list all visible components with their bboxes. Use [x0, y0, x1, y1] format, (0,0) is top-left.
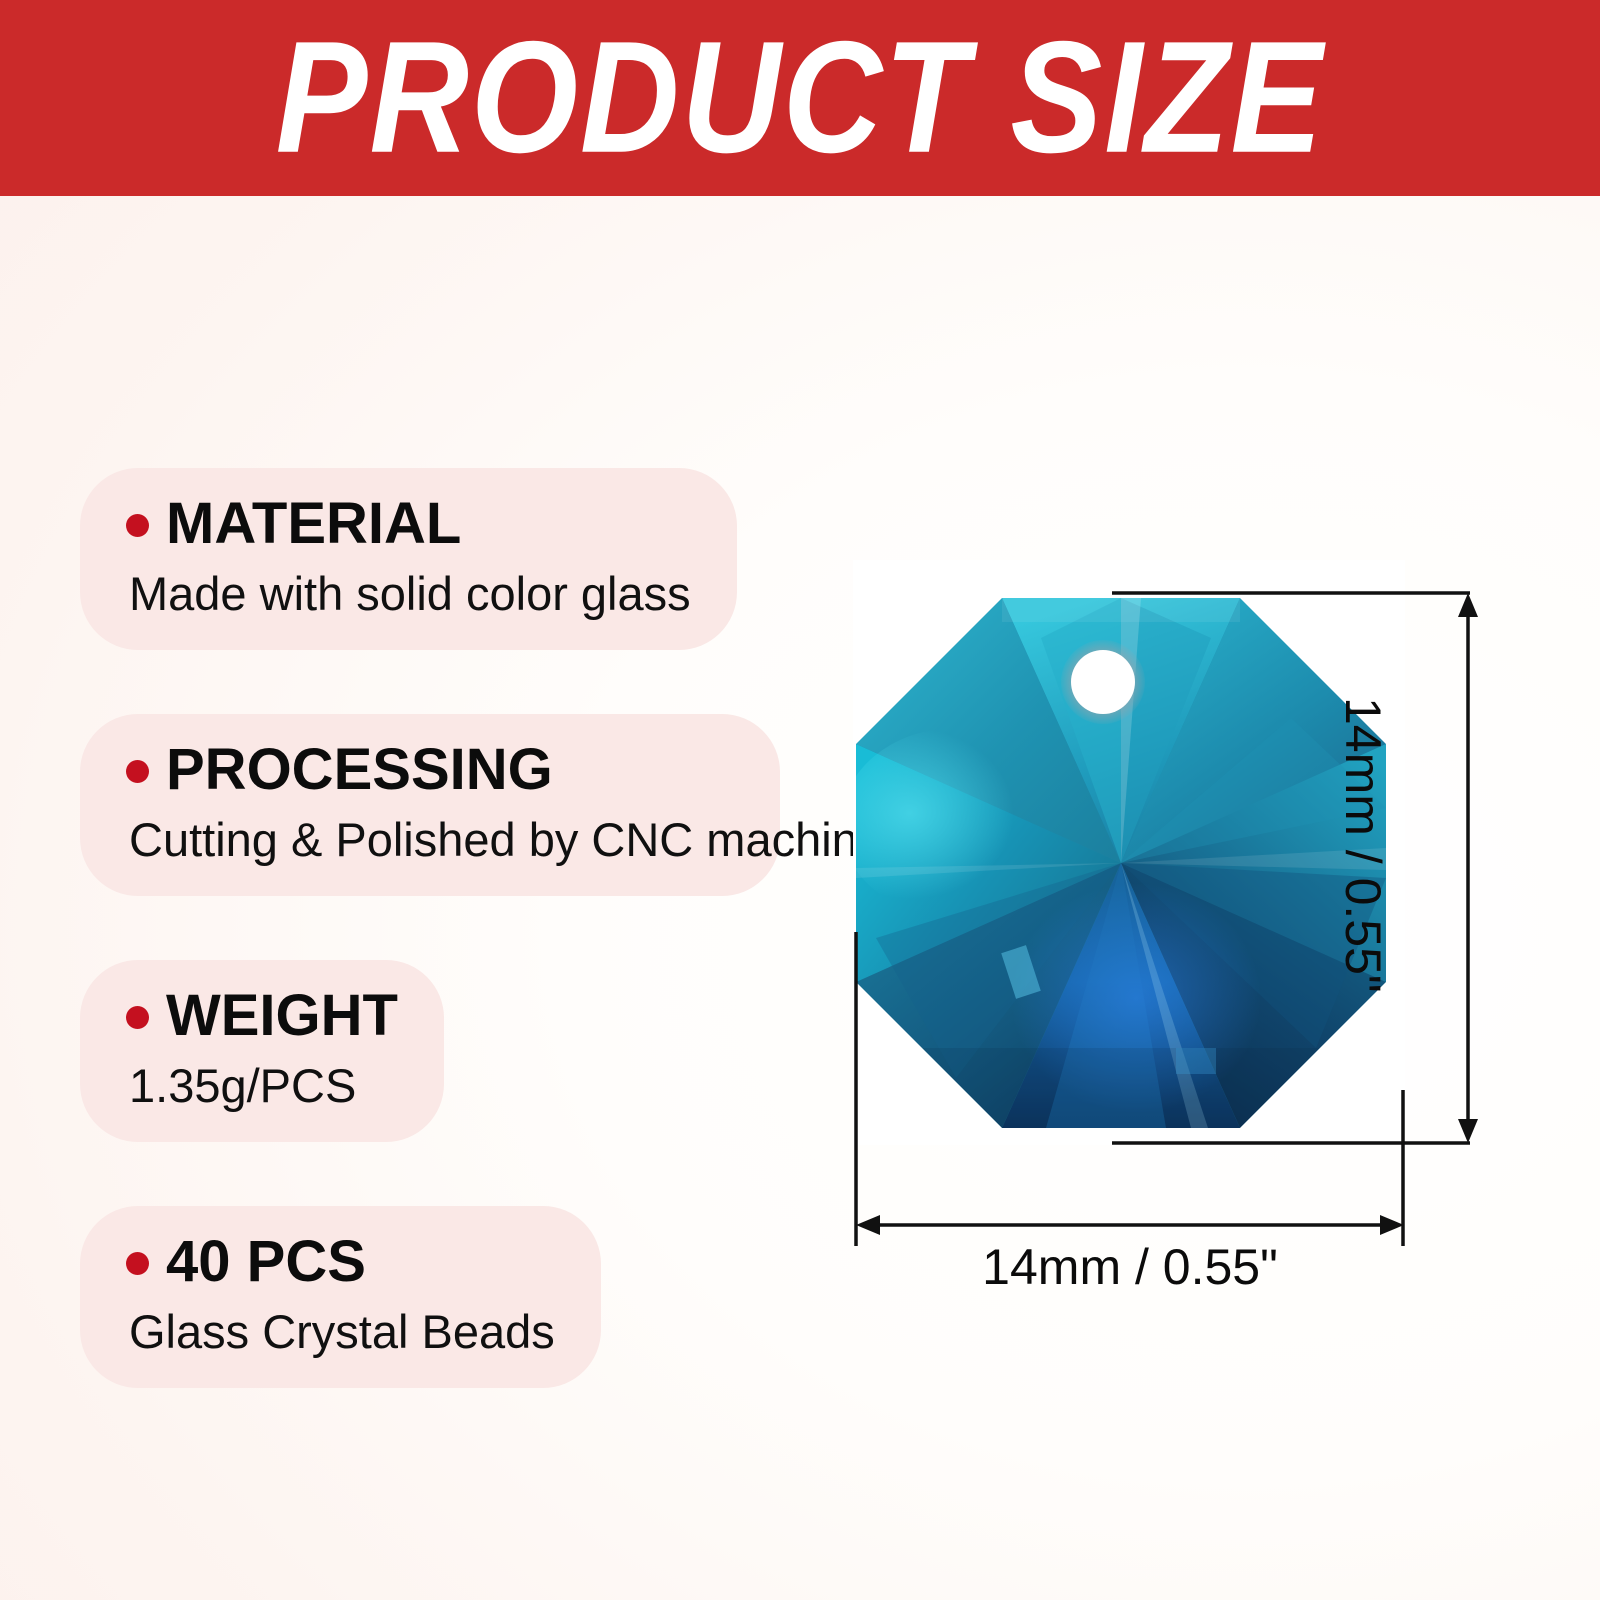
page-title: PRODUCT SIZE: [24, 0, 1576, 208]
arrowhead-up: [1458, 593, 1478, 617]
header-banner: PRODUCT SIZE: [0, 0, 1600, 196]
feature-item-material: MATERIAL Made with solid color glass: [80, 468, 737, 650]
arrowhead-down: [1458, 1119, 1478, 1143]
feature-subtitle: Glass Crystal Beads: [129, 1307, 555, 1358]
crystal-bead-graphic: [836, 578, 1406, 1148]
feature-heading-row: PROCESSING: [126, 740, 734, 799]
product-size-infographic: PRODUCT SIZE MATERIAL Made with solid co…: [0, 0, 1600, 1600]
drill-hole-icon: [1061, 640, 1145, 724]
arrowhead-right: [1380, 1215, 1404, 1235]
feature-list: MATERIAL Made with solid color glass PRO…: [80, 468, 860, 1452]
bullet-dot-icon: [126, 760, 149, 783]
feature-title: PROCESSING: [166, 740, 553, 799]
feature-item-processing: PROCESSING Cutting & Polished by CNC mac…: [80, 714, 780, 896]
feature-subtitle: 1.35g/PCS: [129, 1061, 398, 1112]
feature-subtitle: Made with solid color glass: [129, 569, 691, 620]
feature-heading-row: 40 PCS: [126, 1232, 555, 1291]
bullet-dot-icon: [126, 1252, 149, 1275]
feature-item-weight: WEIGHT 1.35g/PCS: [80, 960, 444, 1142]
product-image-crystal-bead: [836, 578, 1406, 1148]
feature-title: WEIGHT: [166, 986, 398, 1045]
feature-heading-row: MATERIAL: [126, 494, 691, 553]
feature-heading-row: WEIGHT: [126, 986, 398, 1045]
feature-item-quantity: 40 PCS Glass Crystal Beads: [80, 1206, 601, 1388]
bullet-dot-icon: [126, 514, 149, 537]
feature-title: MATERIAL: [166, 494, 461, 553]
dimension-label-width: 14mm / 0.55": [856, 1238, 1404, 1296]
dimension-label-height: 14mm / 0.55": [1334, 697, 1392, 993]
feature-subtitle: Cutting & Polished by CNC machine: [129, 815, 734, 866]
bullet-dot-icon: [126, 1006, 149, 1029]
feature-title: 40 PCS: [166, 1232, 366, 1291]
